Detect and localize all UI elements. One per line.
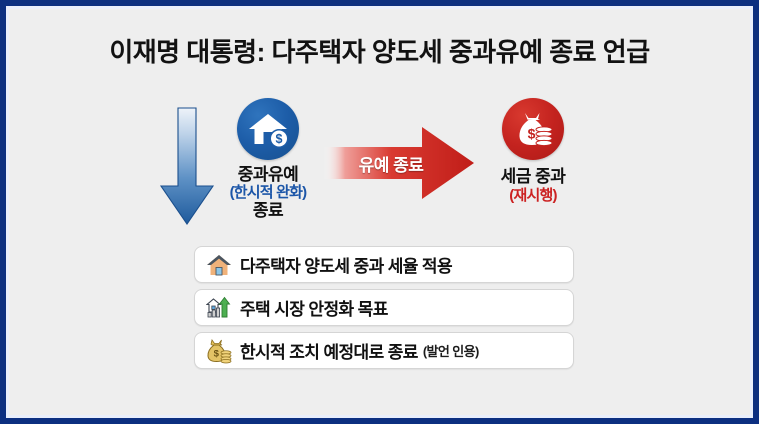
infographic-canvas: 이재명 대통령: 다주택자 양도세 중과유예 종료 언급	[0, 0, 759, 424]
list-item-label: 다주택자 양도세 중과 세율 적용	[240, 252, 452, 277]
list-item-label: 한시적 조치 예정대로 종료	[240, 338, 418, 363]
list-item: 다주택자 양도세 중과 세율 적용	[194, 246, 574, 283]
svg-text:$: $	[528, 126, 536, 142]
list-item-note: (발언 인용)	[423, 341, 479, 360]
page-title: 이재명 대통령: 다주택자 양도세 중과유예 종료 언급	[6, 32, 753, 69]
svg-text:$: $	[276, 132, 283, 146]
after-state-sublabel: (재시행)	[468, 187, 598, 205]
after-state-label: 세금 중과	[468, 167, 598, 187]
list-item-label: 주택 시장 안정화 목표	[240, 295, 388, 320]
list-item: 주택 시장 안정화 목표	[194, 289, 574, 326]
flow-diagram: $ 중과유예 (한시적 완화) 종료 유예 종료	[6, 98, 753, 234]
money-bag-icon: $	[205, 337, 233, 365]
transition-arrow: 유예 종료	[324, 125, 476, 201]
transition-label: 유예 종료	[332, 151, 450, 176]
after-state-node: $ 세금 중과 (재시행)	[468, 98, 598, 204]
money-bag-with-coins-icon: $	[502, 98, 564, 160]
house-with-dollar-icon: $	[237, 98, 299, 160]
before-state-label: 중과유예	[202, 165, 334, 184]
before-state-node: $ 중과유예 (한시적 완화) 종료	[202, 98, 334, 221]
list-item: $ 한시적 조치 예정대로 종료 (발언 인용)	[194, 332, 574, 369]
svg-text:$: $	[214, 348, 220, 359]
house-icon	[205, 251, 233, 279]
house-growth-chart-icon	[205, 294, 233, 322]
key-points-list: 다주택자 양도세 중과 세율 적용 주택 시장 안정화 목표	[194, 246, 574, 375]
before-state-sublabel: (한시적 완화)	[202, 184, 334, 201]
before-state-endlabel: 종료	[202, 201, 334, 221]
